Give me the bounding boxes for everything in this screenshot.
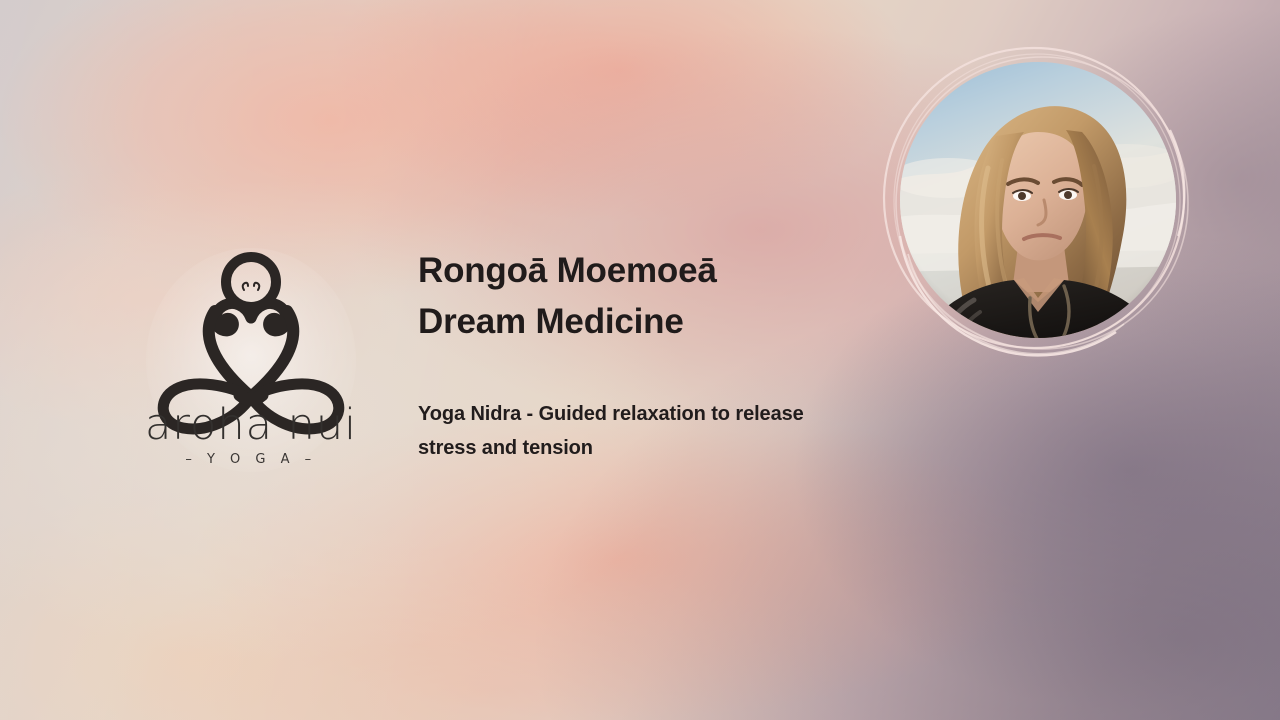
title-line-english: Dream Medicine <box>418 297 888 348</box>
logo-wordmark: aroha nui <box>143 404 359 447</box>
promo-slide: aroha nui – Y O G A – Rongoā Moemoeā Dre… <box>0 0 1280 720</box>
title-line-maori: Rongoā Moemoeā <box>418 246 888 297</box>
subtitle-line-2: stress and tension <box>418 432 918 466</box>
subtitle-line-1: Yoga Nidra - Guided relaxation to releas… <box>418 398 918 432</box>
portrait-photo <box>878 40 1198 360</box>
avatar <box>878 40 1198 360</box>
page-title: Rongoā Moemoeā Dream Medicine <box>418 246 888 348</box>
logo-tagline: – Y O G A – <box>143 452 359 467</box>
page-subtitle: Yoga Nidra - Guided relaxation to releas… <box>418 398 918 465</box>
